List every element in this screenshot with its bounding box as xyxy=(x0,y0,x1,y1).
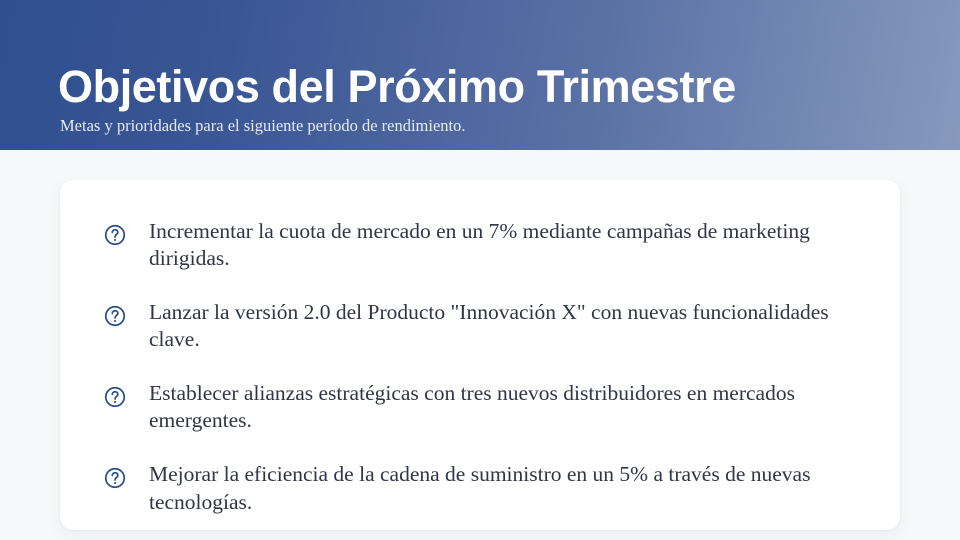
circled-question-mark-icon xyxy=(104,224,126,246)
objectives-card: Incrementar la cuota de mercado en un 7%… xyxy=(60,180,900,530)
list-item-label: Establecer alianzas estratégicas con tre… xyxy=(149,380,856,434)
page-subtitle: Metas y prioridades para el siguiente pe… xyxy=(60,116,920,136)
list-item: Establecer alianzas estratégicas con tre… xyxy=(104,380,856,434)
header-banner: Objetivos del Próximo Trimestre Metas y … xyxy=(0,0,960,150)
list-item: Lanzar la versión 2.0 del Producto "Inno… xyxy=(104,299,856,353)
list-item-label: Incrementar la cuota de mercado en un 7%… xyxy=(149,218,856,272)
circled-question-mark-icon xyxy=(104,467,126,489)
list-item-label: Lanzar la versión 2.0 del Producto "Inno… xyxy=(149,299,856,353)
header-text-block: Objetivos del Próximo Trimestre Metas y … xyxy=(58,63,920,136)
objectives-list: Incrementar la cuota de mercado en un 7%… xyxy=(104,218,856,516)
slide-root: Objetivos del Próximo Trimestre Metas y … xyxy=(0,0,960,540)
circled-question-mark-icon xyxy=(104,386,126,408)
list-item: Incrementar la cuota de mercado en un 7%… xyxy=(104,218,856,272)
list-item: Mejorar la eficiencia de la cadena de su… xyxy=(104,461,856,515)
list-item-label: Mejorar la eficiencia de la cadena de su… xyxy=(149,461,856,515)
circled-question-mark-icon xyxy=(104,305,126,327)
page-title: Objetivos del Próximo Trimestre xyxy=(58,63,920,111)
